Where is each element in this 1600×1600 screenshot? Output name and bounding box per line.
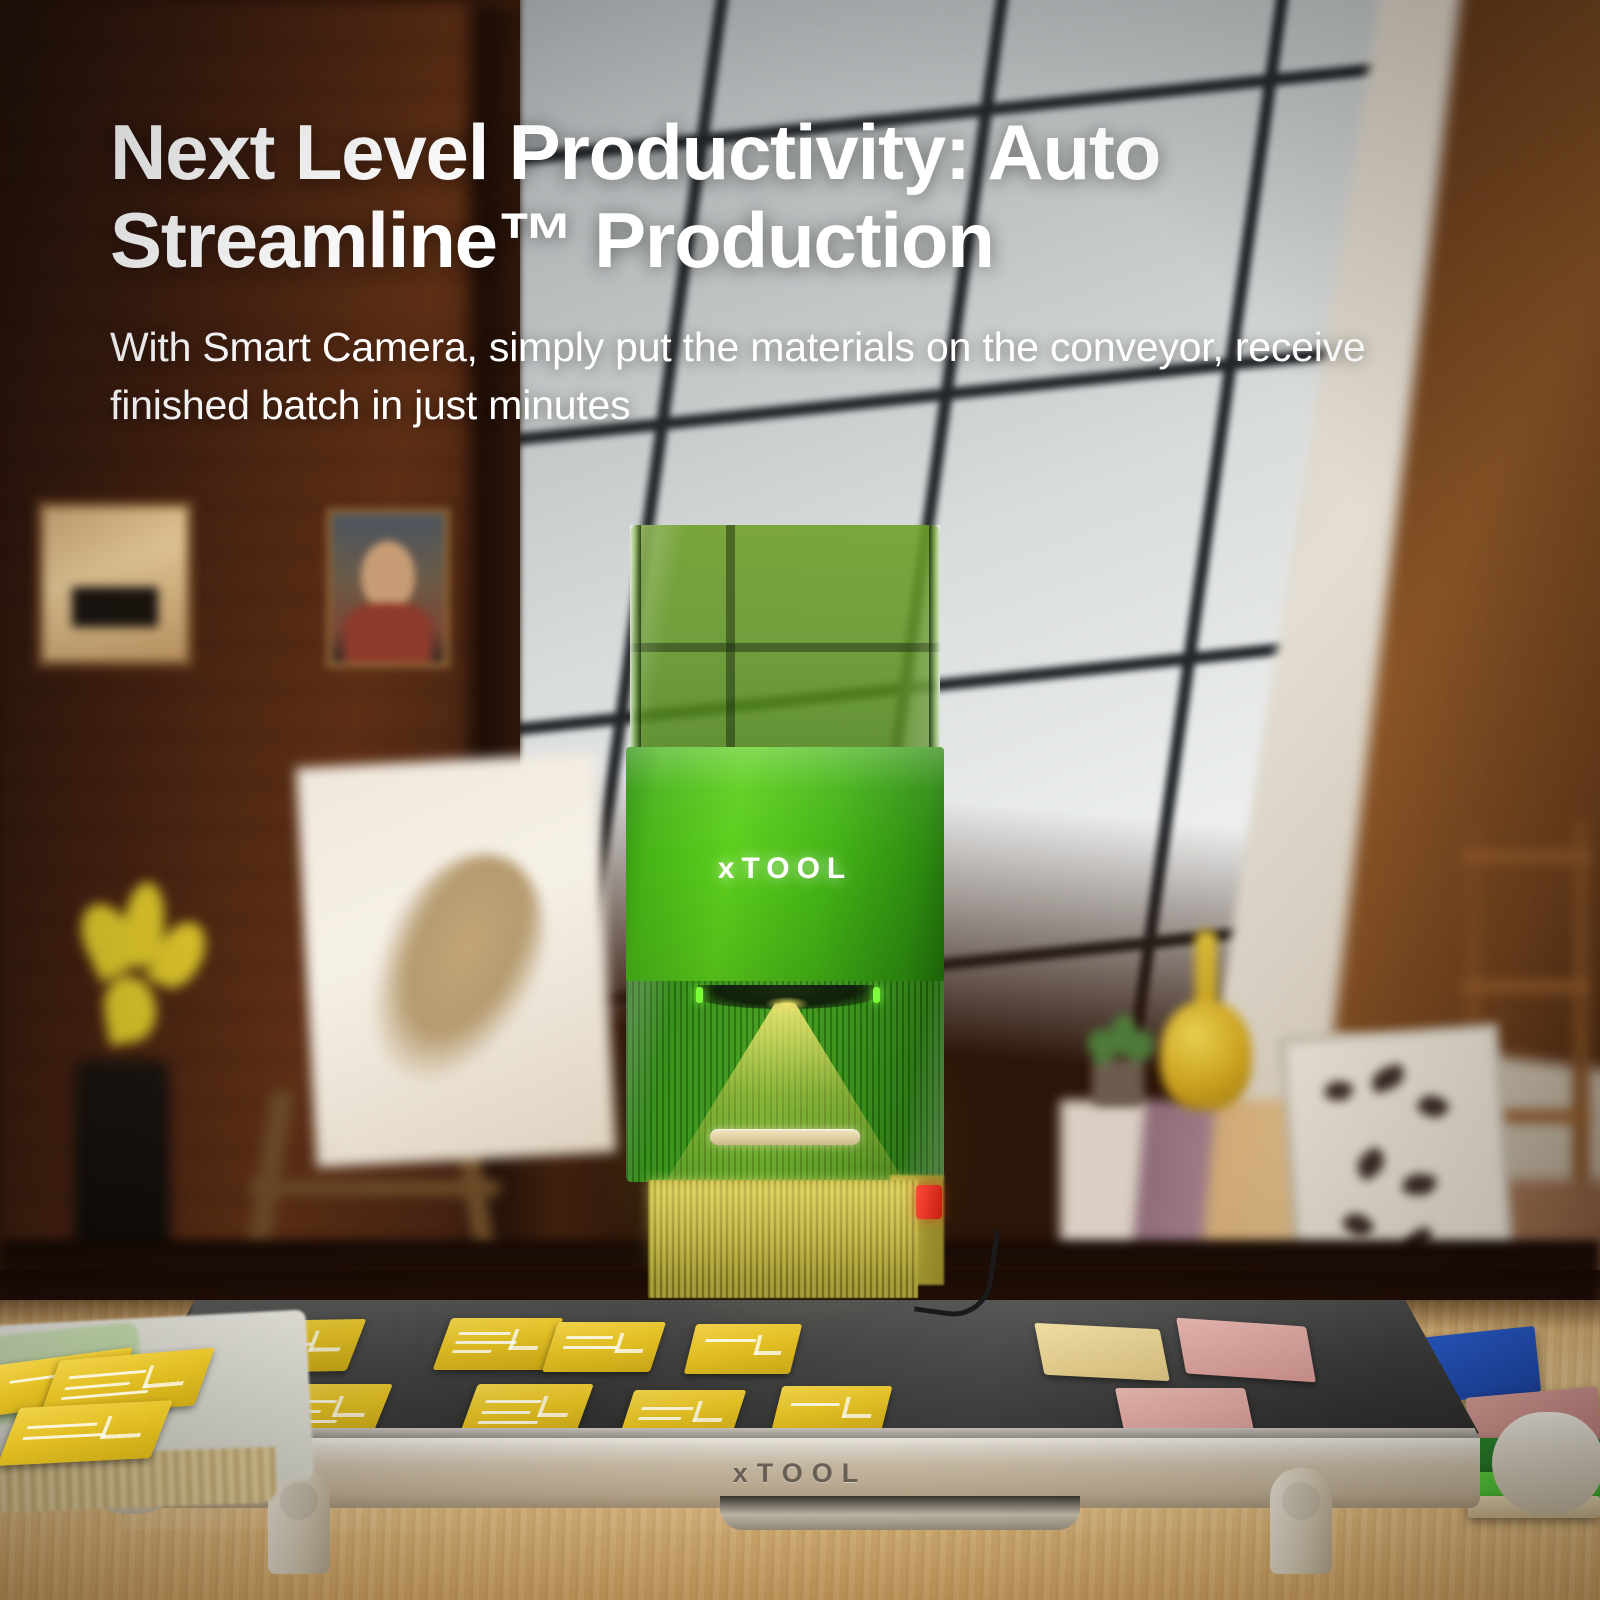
conveyor-roller-right	[1492, 1412, 1600, 1514]
machine-translucent-hood	[630, 525, 940, 750]
easel-crossbar	[250, 1180, 500, 1196]
artwork-motif	[1340, 1208, 1376, 1243]
chamber-gloss	[626, 981, 944, 1182]
subheadline: With Smart Camera, simply put the materi…	[110, 318, 1390, 434]
marketing-hero-image: xTOOL xTOOL	[0, 0, 1600, 1600]
yellow-flowers	[62, 880, 242, 1110]
easel-canvas	[296, 752, 617, 1167]
portrait-face	[361, 541, 415, 609]
hood-gloss	[630, 525, 940, 750]
artwork-motif	[1415, 1090, 1450, 1123]
blank-card-cream	[1034, 1323, 1170, 1381]
xtool-laser-engraver: xTOOL	[620, 525, 950, 1225]
artwork-motif	[1352, 1145, 1390, 1182]
blank-card-pink	[1176, 1318, 1316, 1383]
framed-poster	[36, 500, 194, 668]
engraved-card	[542, 1322, 666, 1372]
framed-portrait	[326, 508, 450, 668]
machine-base-plate	[720, 1496, 1080, 1530]
ladder-rung	[1461, 850, 1591, 863]
vase-bulb	[1160, 1000, 1252, 1110]
ladder-rung	[1461, 980, 1591, 993]
machine-brand-logo: xTOOL	[626, 852, 944, 886]
hood-rail-right	[929, 525, 940, 750]
conveyor-assembly: xTOOL	[120, 1300, 1480, 1530]
copy-block: Next Level Productivity: Auto Streamline…	[110, 108, 1530, 435]
flower-petal	[99, 972, 162, 1046]
hood-rail-left	[630, 525, 641, 750]
headline: Next Level Productivity: Auto Streamline…	[110, 108, 1530, 284]
engraved-card	[684, 1324, 802, 1374]
artwork-motif	[1369, 1063, 1408, 1094]
amber-glass-vase	[1160, 930, 1252, 1110]
artwork-motif	[1402, 1171, 1437, 1198]
artwork-motif	[1324, 1078, 1355, 1104]
emergency-stop-button[interactable]	[916, 1185, 942, 1219]
skirt-glow	[648, 1180, 918, 1298]
finished-card	[0, 1400, 173, 1466]
portrait-body	[345, 603, 430, 662]
potted-plant	[1082, 1010, 1154, 1106]
plant-pot	[1092, 1060, 1144, 1106]
machine-body: xTOOL	[626, 747, 944, 984]
conveyor-brand-logo: xTOOL	[120, 1458, 1480, 1489]
laser-work-chamber	[626, 981, 944, 1182]
